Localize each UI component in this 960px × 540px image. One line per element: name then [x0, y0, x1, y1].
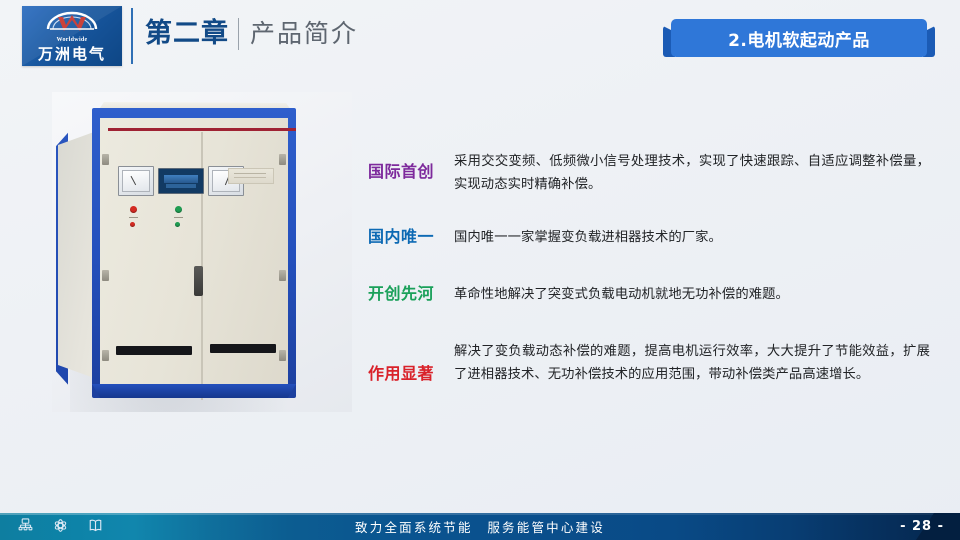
indicator-lamp-green-1 [175, 206, 182, 213]
ventilation-slot-left [116, 346, 192, 355]
cabinet-door-handle[interactable] [194, 266, 203, 296]
feature-label-0: 国际首创 [368, 150, 454, 183]
feature-text-0: 采用交交变频、低频微小信号处理技术，实现了快速跟踪、自适应调整补偿量，实现动态实… [454, 150, 930, 196]
slide-header: Worldwide 万洲电气 第二章 产品简介 2.电机软起动产品 [0, 0, 960, 78]
feature-label-2: 开创先河 [368, 283, 454, 305]
feature-label-1: 国内唯一 [368, 226, 454, 248]
feature-text-2: 革命性地解决了突变式负载电动机就地无功补偿的难题。 [454, 283, 946, 306]
logo-latin-name: Worldwide [56, 37, 87, 44]
footer-slogan: 致力全面系统节能 服务能管中心建设 [0, 513, 960, 540]
display-segment-row [164, 175, 198, 183]
company-logo[interactable]: Worldwide 万洲电气 [22, 6, 122, 66]
meter-dial [122, 170, 150, 192]
chapter-separator [238, 18, 239, 50]
door-hinge [279, 154, 286, 165]
header-accent-bar [131, 8, 133, 64]
feature-text-1: 国内唯一一家掌握变负载进相器技术的厂家。 [454, 226, 930, 249]
section-badge-label: 2.电机软起动产品 [728, 26, 870, 51]
chapter-number: 第二章 [145, 16, 229, 52]
slide-canvas: Worldwide 万洲电气 第二章 产品简介 2.电机软起动产品 [0, 0, 960, 540]
product-image [52, 92, 352, 412]
section-badge[interactable]: 2.电机软起动产品 [663, 19, 935, 57]
slide-footer: 致力全面系统节能 服务能管中心建设 - 28 - [0, 513, 960, 540]
door-hinge [102, 350, 109, 361]
feature-row: 国际首创 采用交交变频、低频微小信号处理技术，实现了快速跟踪、自适应调整补偿量，… [368, 150, 946, 196]
feature-text-3: 解决了变负载动态补偿的难题，提高电机运行效率，大大提升了节能效益，扩展了进相器技… [454, 340, 930, 386]
badge-body: 2.电机软起动产品 [671, 19, 927, 57]
analog-meter-left [118, 166, 154, 196]
meter-needle [131, 176, 136, 185]
door-hinge [279, 270, 286, 281]
cabinet-red-stripe [108, 128, 296, 131]
door-hinge [279, 350, 286, 361]
feature-row: 开创先河 革命性地解决了突变式负载电动机就地无功补偿的难题。 [368, 283, 946, 306]
indicator-lamp-red-2 [130, 222, 135, 227]
display-segment-row-2 [166, 184, 196, 188]
chapter-title: 产品简介 [250, 17, 358, 51]
feature-list: 国际首创 采用交交变频、低频微小信号处理技术，实现了快速跟踪、自适应调整补偿量，… [368, 150, 946, 386]
indicator-lamp-green-2 [175, 222, 180, 227]
lamp-marker [174, 217, 183, 218]
cabinet-front-frame [92, 108, 296, 398]
door-hinge [102, 154, 109, 165]
feature-label-3: 作用显著 [368, 340, 454, 385]
ventilation-slot-right [210, 344, 276, 353]
cabinet-doors [100, 118, 288, 390]
feature-row: 国内唯一 国内唯一一家掌握变负载进相器技术的厂家。 [368, 226, 946, 249]
cabinet-nameplate [228, 168, 274, 184]
door-hinge [102, 270, 109, 281]
indicator-lamp-red-1 [130, 206, 137, 213]
feature-row: 作用显著 解决了变负载动态补偿的难题，提高电机运行效率，大大提升了节能效益，扩展… [368, 340, 946, 386]
lamp-marker [129, 217, 138, 218]
logo-company-name: 万洲电气 [38, 46, 106, 63]
cabinet-base [92, 384, 296, 398]
product-figure: WVP变负载进相器 [52, 92, 352, 412]
digital-display [158, 168, 204, 194]
page-number: - 28 - [900, 513, 944, 540]
w-emblem-icon [44, 10, 100, 36]
